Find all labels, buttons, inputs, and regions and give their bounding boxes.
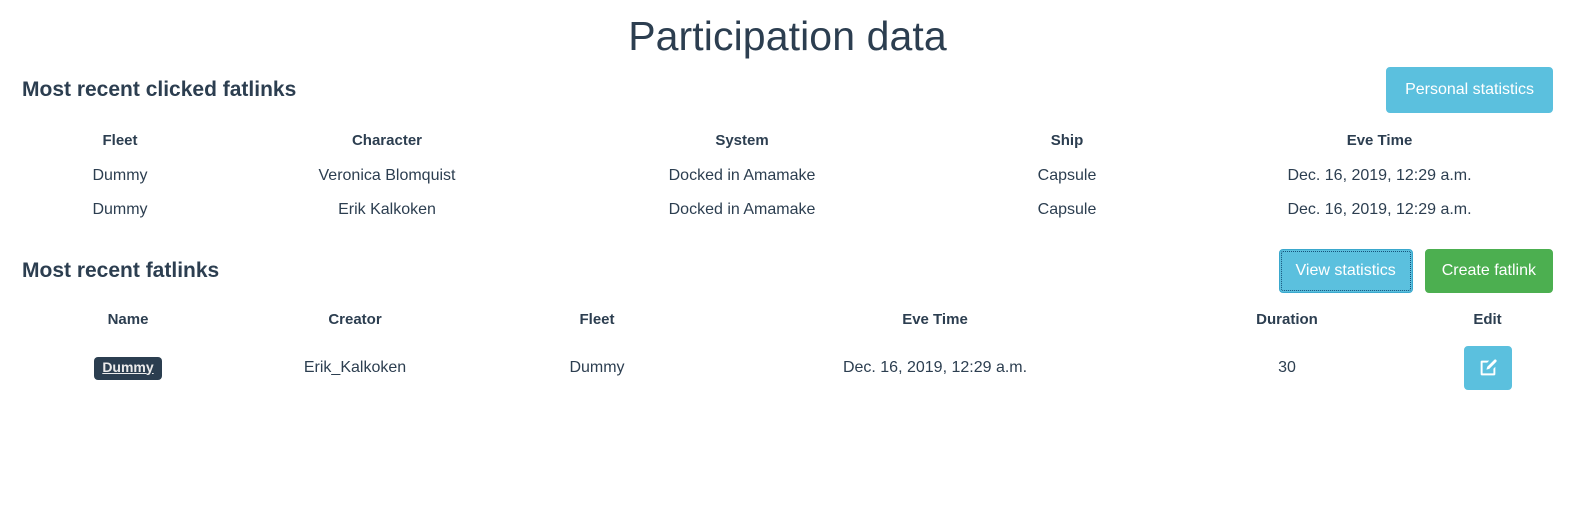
cell-character: Erik Kalkoken <box>218 193 556 227</box>
column-header-eve-time: Eve Time <box>718 301 1152 338</box>
table-header-row: Name Creator Fleet Eve Time Duration Edi… <box>22 301 1553 338</box>
column-header-name: Name <box>22 301 234 338</box>
cell-ship: Capsule <box>928 193 1206 227</box>
table-header-row: Fleet Character System Ship Eve Time <box>22 122 1553 159</box>
cell-eve-time: Dec. 16, 2019, 12:29 a.m. <box>718 338 1152 398</box>
column-header-system: System <box>556 122 928 159</box>
cell-fleet: Dummy <box>476 338 718 398</box>
cell-fleet: Dummy <box>22 159 218 193</box>
cell-eve-time: Dec. 16, 2019, 12:29 a.m. <box>1206 193 1553 227</box>
table-row: Dummy Erik_Kalkoken Dummy Dec. 16, 2019,… <box>22 338 1553 398</box>
fatlinks-table: Name Creator Fleet Eve Time Duration Edi… <box>22 301 1553 398</box>
fatlink-name-badge: Dummy <box>94 357 161 380</box>
fatlinks-section-header: Most recent fatlinks View statistics Cre… <box>22 245 1553 297</box>
column-header-eve-time: Eve Time <box>1206 122 1553 159</box>
clicked-fatlinks-section-header: Most recent clicked fatlinks Personal st… <box>22 64 1553 116</box>
participation-data-page: Participation data Most recent clicked f… <box>0 0 1575 511</box>
cell-system: Docked in Amamake <box>556 159 928 193</box>
column-header-creator: Creator <box>234 301 476 338</box>
column-header-duration: Duration <box>1152 301 1422 338</box>
column-header-edit: Edit <box>1422 301 1553 338</box>
table-row: Dummy Erik Kalkoken Docked in Amamake Ca… <box>22 193 1553 227</box>
personal-statistics-button[interactable]: Personal statistics <box>1386 67 1553 113</box>
cell-duration: 30 <box>1152 338 1422 398</box>
fatlink-name-link[interactable]: Dummy <box>102 359 153 375</box>
column-header-ship: Ship <box>928 122 1206 159</box>
cell-fleet: Dummy <box>22 193 218 227</box>
column-header-character: Character <box>218 122 556 159</box>
column-header-fleet: Fleet <box>476 301 718 338</box>
page-title: Participation data <box>22 0 1553 64</box>
clicked-fatlinks-table-wrapper: Fleet Character System Ship Eve Time Dum… <box>22 122 1553 227</box>
clicked-fatlinks-heading: Most recent clicked fatlinks <box>22 77 296 103</box>
cell-name: Dummy <box>22 338 234 398</box>
cell-eve-time: Dec. 16, 2019, 12:29 a.m. <box>1206 159 1553 193</box>
edit-fatlink-button[interactable] <box>1464 346 1512 390</box>
clicked-fatlinks-table: Fleet Character System Ship Eve Time Dum… <box>22 122 1553 227</box>
cell-ship: Capsule <box>928 159 1206 193</box>
fatlinks-table-wrapper: Name Creator Fleet Eve Time Duration Edi… <box>22 301 1553 398</box>
create-fatlink-button[interactable]: Create fatlink <box>1425 249 1553 293</box>
fatlinks-actions: View statistics Create fatlink <box>1279 249 1553 293</box>
edit-square-pencil-icon <box>1477 357 1499 379</box>
table-row: Dummy Veronica Blomquist Docked in Amama… <box>22 159 1553 193</box>
cell-creator: Erik_Kalkoken <box>234 338 476 398</box>
cell-character: Veronica Blomquist <box>218 159 556 193</box>
cell-edit <box>1422 338 1553 398</box>
column-header-fleet: Fleet <box>22 122 218 159</box>
fatlinks-heading: Most recent fatlinks <box>22 258 219 284</box>
clicked-fatlinks-actions: Personal statistics <box>1386 67 1553 113</box>
view-statistics-button[interactable]: View statistics <box>1279 249 1413 293</box>
cell-system: Docked in Amamake <box>556 193 928 227</box>
